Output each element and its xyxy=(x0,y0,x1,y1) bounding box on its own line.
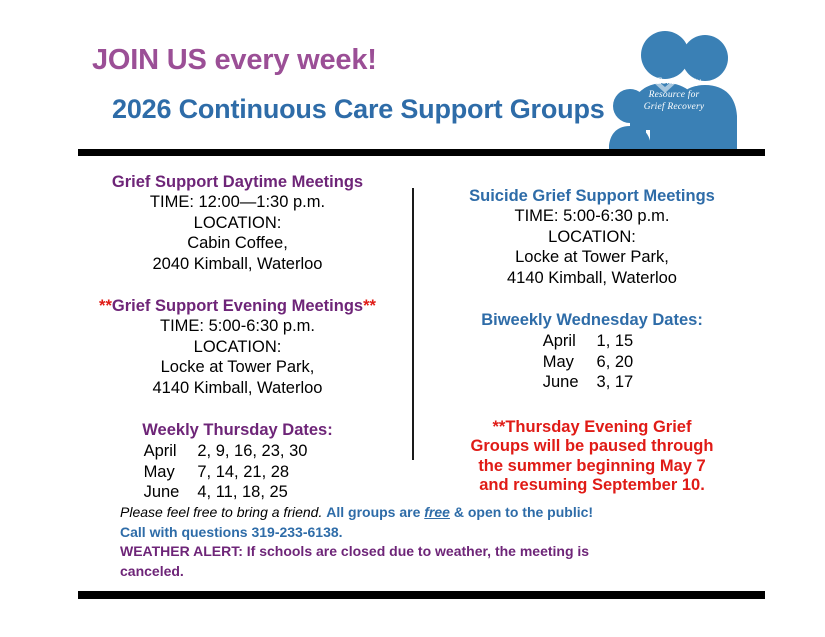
month-label: April xyxy=(144,441,198,462)
section-suicide-grief-meetings: Suicide Grief Support Meetings TIME: 5:0… xyxy=(422,186,762,288)
suicide-time: TIME: 5:00-6:30 p.m. xyxy=(422,206,762,227)
suicide-venue: Locke at Tower Park, xyxy=(422,247,762,268)
daytime-address: 2040 Kimball, Waterloo xyxy=(70,254,405,275)
section-wednesday-dates: Biweekly Wednesday Dates: April 1, 15 Ma… xyxy=(422,310,762,398)
daytime-time: TIME: 12:00—1:30 p.m. xyxy=(70,192,405,213)
month-label: June xyxy=(543,372,597,393)
wednesday-dates-heading: Biweekly Wednesday Dates: xyxy=(422,310,762,330)
evening-heading-text: Grief Support Evening Meetings xyxy=(112,297,363,315)
notice-line-4: and resuming September 10. xyxy=(422,476,762,496)
evening-heading-stars-prefix: ** xyxy=(99,297,112,315)
table-row: June 4, 11, 18, 25 xyxy=(144,482,308,503)
days-value: 6, 20 xyxy=(597,352,634,373)
table-row: June 3, 17 xyxy=(543,372,633,393)
month-label: April xyxy=(543,331,597,352)
daytime-location-label: LOCATION: xyxy=(70,213,405,234)
spacer xyxy=(422,288,762,310)
section-evening-meetings: **Grief Support Evening Meetings** TIME:… xyxy=(70,296,405,398)
thursday-dates-table: April 2, 9, 16, 23, 30 May 7, 14, 21, 28… xyxy=(144,441,308,503)
footer-weather-alert-line-2: canceled. xyxy=(120,562,760,582)
family-figures-icon xyxy=(608,28,778,155)
footer-all-groups-are: All groups are xyxy=(326,504,420,520)
table-row: May 6, 20 xyxy=(543,352,633,373)
notice-line-1: **Thursday Evening Grief xyxy=(422,418,762,438)
footer-phone-line[interactable]: Call with questions 319-233-6138. xyxy=(120,523,760,543)
days-value: 4, 11, 18, 25 xyxy=(197,482,307,503)
section-daytime-meetings: Grief Support Daytime Meetings TIME: 12:… xyxy=(70,172,405,274)
evening-address: 4140 Kimball, Waterloo xyxy=(70,378,405,399)
spacer xyxy=(70,398,405,420)
community-grief-recovery-logo: A Community Resource for Grief Recovery xyxy=(608,28,778,155)
footer-open-to-public: & open to the public! xyxy=(454,504,593,520)
footer-weather-alert-line-1: WEATHER ALERT: If schools are closed due… xyxy=(120,542,760,562)
month-label: June xyxy=(144,482,198,503)
footer-bring-a-friend: Please feel free to bring a friend. xyxy=(120,504,322,520)
divider-top-bar xyxy=(78,149,765,156)
month-label: May xyxy=(543,352,597,373)
suicide-heading: Suicide Grief Support Meetings xyxy=(422,186,762,206)
page-title-join: JOIN US every week! xyxy=(92,44,377,77)
notice-line-3: the summer beginning May 7 xyxy=(422,457,762,477)
evening-venue: Locke at Tower Park, xyxy=(70,357,405,378)
left-column: Grief Support Daytime Meetings TIME: 12:… xyxy=(70,172,405,508)
days-value: 2, 9, 16, 23, 30 xyxy=(197,441,307,462)
days-value: 7, 14, 21, 28 xyxy=(197,462,307,483)
section-thursday-dates: Weekly Thursday Dates: April 2, 9, 16, 2… xyxy=(70,420,405,508)
days-value: 1, 15 xyxy=(597,331,634,352)
divider-vertical xyxy=(412,188,414,460)
spacer xyxy=(70,274,405,296)
right-column: Suicide Grief Support Meetings TIME: 5:0… xyxy=(422,186,762,496)
flyer-footer: Please feel free to bring a friend. All … xyxy=(120,503,760,581)
wednesday-dates-table: April 1, 15 May 6, 20 June 3, 17 xyxy=(543,331,633,393)
suicide-address: 4140 Kimball, Waterloo xyxy=(422,268,762,289)
evening-heading-stars-suffix: ** xyxy=(363,297,376,315)
notice-line-2: Groups will be paused through xyxy=(422,437,762,457)
evening-location-label: LOCATION: xyxy=(70,337,405,358)
suicide-location-label: LOCATION: xyxy=(422,227,762,248)
daytime-venue: Cabin Coffee, xyxy=(70,233,405,254)
flyer-page: JOIN US every week! 2026 Continuous Care… xyxy=(0,0,825,637)
footer-free-emphasis: free xyxy=(424,504,450,520)
month-label: May xyxy=(144,462,198,483)
divider-bottom-bar xyxy=(78,591,765,599)
page-title-year: 2026 Continuous Care Support Groups xyxy=(112,94,605,125)
daytime-heading: Grief Support Daytime Meetings xyxy=(70,172,405,192)
days-value: 3, 17 xyxy=(597,372,634,393)
flyer-header: JOIN US every week! 2026 Continuous Care… xyxy=(0,0,825,152)
table-row: April 1, 15 xyxy=(543,331,633,352)
table-row: April 2, 9, 16, 23, 30 xyxy=(144,441,308,462)
footer-line-1: Please feel free to bring a friend. All … xyxy=(120,503,760,523)
thursday-dates-heading: Weekly Thursday Dates: xyxy=(70,420,405,440)
summer-pause-notice: **Thursday Evening Grief Groups will be … xyxy=(422,418,762,496)
evening-time: TIME: 5:00-6:30 p.m. xyxy=(70,316,405,337)
evening-heading: **Grief Support Evening Meetings** xyxy=(70,296,405,316)
table-row: May 7, 14, 21, 28 xyxy=(144,462,308,483)
